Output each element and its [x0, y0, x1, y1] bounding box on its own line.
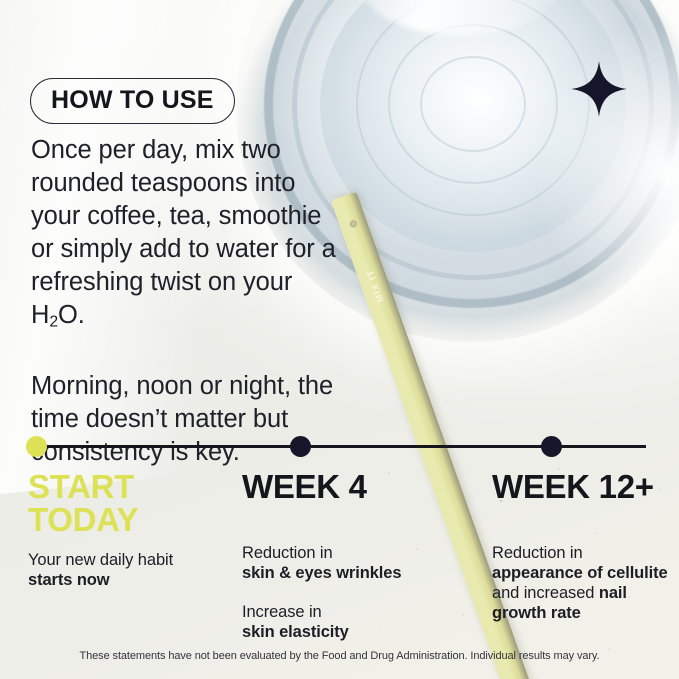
milestone-detail-week12-bold: appearance of cellulite	[492, 564, 668, 582]
timeline-dot-week12	[541, 436, 562, 457]
milestone-detail-week4-2-bold: skin elasticity	[242, 623, 349, 641]
milestone-detail-week4-1-normal: Reduction in	[242, 544, 333, 562]
instructions-paragraph-1-end: O.	[58, 301, 85, 329]
milestone-detail-week12: Reduction in appearance of cellulite and…	[492, 543, 679, 623]
instructions-paragraph-1: Once per day, mix two rounded teaspoons …	[31, 134, 347, 338]
milestone-detail-week12-normal-2: and increased	[492, 584, 599, 602]
milestone-detail-start-normal: Your new daily habit	[28, 551, 173, 569]
how-to-use-badge: HOW TO USE	[30, 78, 235, 124]
legal-disclaimer: These statements have not been evaluated…	[0, 650, 679, 662]
milestone-title-week4: WEEK 4	[242, 470, 457, 503]
milestone-detail-week4-2-normal: Increase in	[242, 603, 322, 621]
timeline-column-week4: WEEK 4 Reduction in skin & eyes wrinkles…	[242, 470, 457, 642]
milestone-title-start-line2: TODAY	[28, 503, 238, 536]
milestone-detail-start: Your new daily habit starts now	[28, 550, 238, 590]
timeline-column-start: START TODAY Your new daily habit starts …	[28, 470, 238, 590]
milestone-detail-week4-1-bold: skin & eyes wrinkles	[242, 564, 401, 582]
timeline-column-week12: WEEK 12+ Reduction in appearance of cell…	[492, 470, 679, 623]
milestone-detail-week12-normal: Reduction in	[492, 544, 583, 562]
timeline-dot-start	[26, 436, 47, 457]
infographic-content: HOW TO USE Once per day, mix two rounded…	[0, 0, 679, 679]
timeline-dot-week4	[290, 436, 311, 457]
milestone-title-start: START TODAY	[28, 470, 238, 536]
milestone-detail-start-bold: starts now	[28, 571, 110, 589]
milestone-title-week12: WEEK 12+	[492, 470, 679, 503]
milestone-detail-week4-2: Increase in skin elasticity	[242, 602, 457, 642]
instructions-block: Once per day, mix two rounded teaspoons …	[31, 134, 347, 469]
milestone-detail-week4-1: Reduction in skin & eyes wrinkles	[242, 543, 457, 583]
h2o-subscript: 2	[49, 313, 58, 330]
milestone-title-start-line1: START	[28, 468, 134, 505]
